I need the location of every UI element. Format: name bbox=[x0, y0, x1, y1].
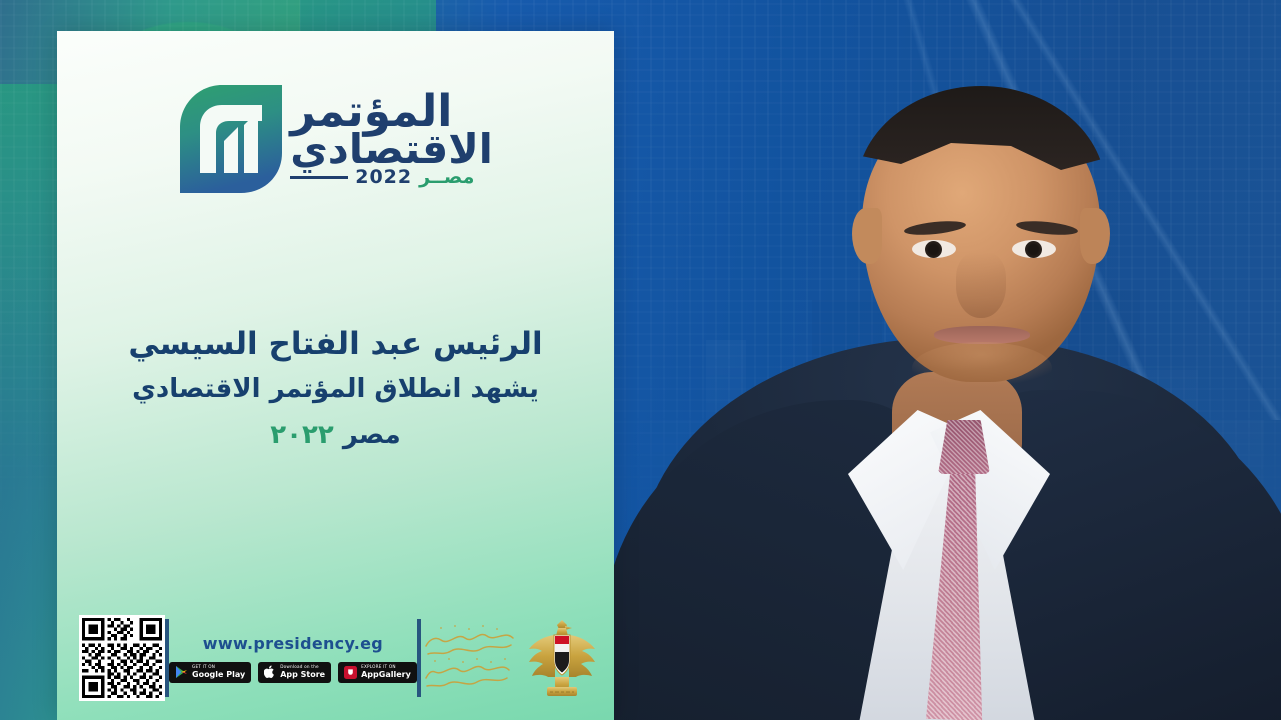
footer-center: www.presidency.eg GET IT ON Google Play bbox=[169, 634, 417, 683]
presidency-identity: جمهورية مصر العربية رئاسة الجمهورية bbox=[421, 617, 603, 699]
info-card: المؤتمر الاقتصادي مصــر 2022 bbox=[57, 31, 614, 720]
conference-logo-wordmark: المؤتمر الاقتصادي مصــر 2022 bbox=[290, 92, 493, 187]
presidency-calligraphy: جمهورية مصر العربية رئاسة الجمهورية bbox=[421, 618, 517, 698]
logo-country: مصــر bbox=[419, 169, 474, 187]
appgallery-badge[interactable]: EXPLORE IT ON AppGallery bbox=[338, 662, 417, 683]
headline-line-1: الرئيس عبد الفتاح السيسي bbox=[57, 326, 614, 362]
google-play-badge-label: Google Play bbox=[192, 671, 245, 679]
appgallery-badge-small: EXPLORE IT ON bbox=[361, 665, 411, 669]
leaf-growth-bars-icon bbox=[178, 83, 282, 195]
app-store-badge[interactable]: Download on the App Store bbox=[258, 662, 331, 683]
president-portrait-icon bbox=[612, 0, 1281, 720]
conference-logo: المؤتمر الاقتصادي مصــر 2022 bbox=[57, 69, 614, 209]
apple-icon bbox=[264, 665, 276, 679]
website-url-link[interactable]: www.presidency.eg bbox=[203, 634, 383, 653]
app-store-badges: GET IT ON Google Play Download on the Ap… bbox=[169, 662, 417, 683]
headline-line-3: مصر ٢٠٢٢ bbox=[57, 420, 614, 450]
appgallery-badge-label: AppGallery bbox=[361, 671, 411, 679]
headline-line-2: يشهد انطلاق المؤتمر الاقتصادي bbox=[57, 374, 614, 404]
google-play-badge[interactable]: GET IT ON Google Play bbox=[169, 662, 251, 683]
logo-rule bbox=[290, 176, 348, 179]
logo-line-2: الاقتصادي bbox=[290, 130, 493, 168]
app-store-badge-small: Download on the bbox=[280, 665, 325, 669]
google-play-icon bbox=[175, 665, 188, 679]
google-play-badge-small: GET IT ON bbox=[192, 665, 245, 669]
appgallery-icon bbox=[344, 666, 357, 679]
qr-code-icon[interactable] bbox=[79, 615, 165, 701]
headline-block: الرئيس عبد الفتاح السيسي يشهد انطلاق الم… bbox=[57, 326, 614, 450]
headline-country: مصر bbox=[343, 420, 401, 450]
logo-year: 2022 bbox=[355, 169, 412, 187]
eagle-of-saladin-emblem-icon bbox=[525, 617, 599, 699]
headline-year: ٢٠٢٢ bbox=[270, 420, 333, 450]
poster-stage: المؤتمر الاقتصادي مصــر 2022 bbox=[0, 0, 1281, 720]
card-footer: www.presidency.eg GET IT ON Google Play bbox=[57, 610, 614, 706]
app-store-badge-label: App Store bbox=[280, 671, 325, 679]
